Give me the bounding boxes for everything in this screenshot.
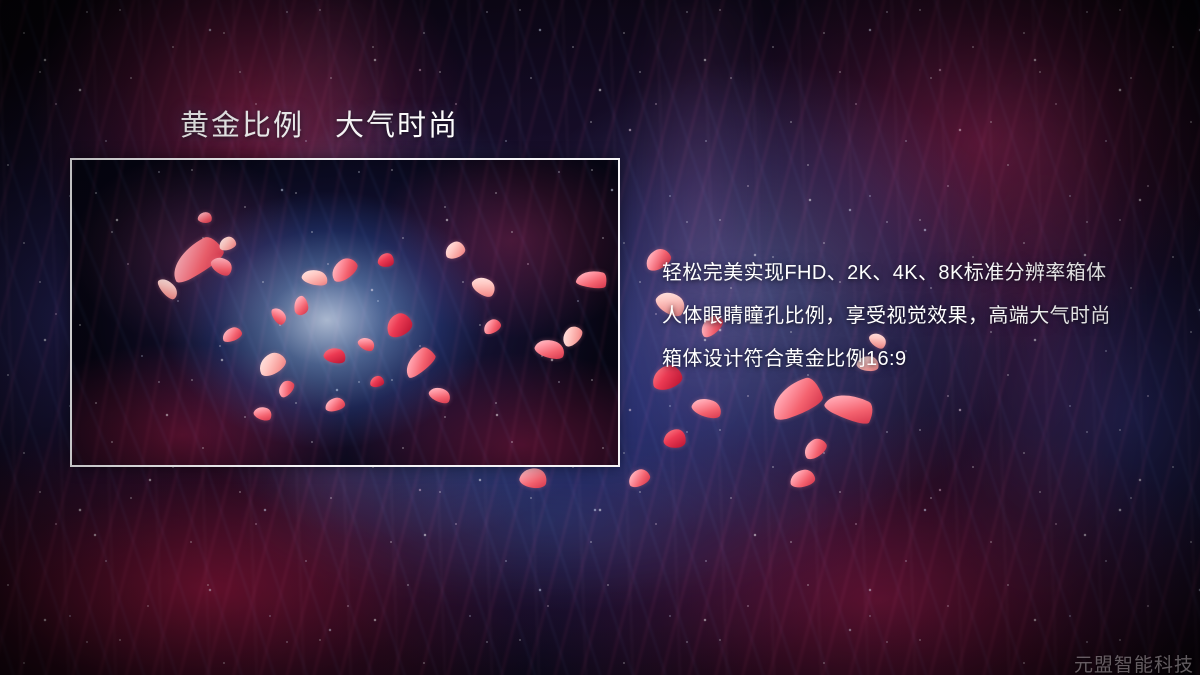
page-title: 黄金比例 大气时尚 — [180, 102, 459, 144]
inset-dust-streaks — [70, 158, 620, 467]
slide-canvas: 黄金比例 大气时尚 轻松完美实现FHD、2K、4K、8K标准分辨率箱体 人体眼睛… — [0, 0, 1200, 675]
copy-line-2: 人体眼睛瞳孔比例，享受视觉效果，高端大气时尚 — [662, 295, 1162, 338]
inset-image-frame[interactable] — [70, 158, 620, 467]
body-copy-block: 轻松完美实现FHD、2K、4K、8K标准分辨率箱体 人体眼睛瞳孔比例，享受视觉效… — [662, 252, 1162, 381]
watermark: 元盟智能科技 — [1074, 650, 1194, 675]
copy-line-3: 箱体设计符合黄金比例16:9 — [662, 338, 1162, 381]
copy-line-1: 轻松完美实现FHD、2K、4K、8K标准分辨率箱体 — [662, 252, 1162, 295]
